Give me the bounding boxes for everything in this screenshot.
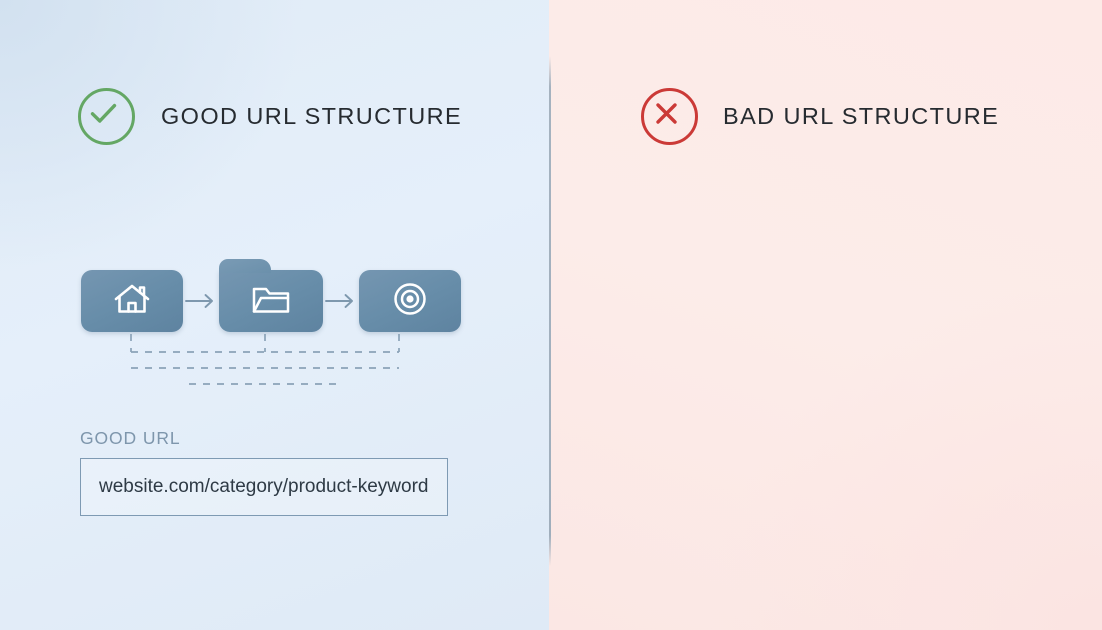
arrow-right-icon-2 <box>323 293 359 309</box>
good-panel-title: GOOD URL STRUCTURE <box>161 103 462 130</box>
comparison-graphic: GOOD URL STRUCTURE <box>0 0 1102 630</box>
url-hierarchy-flow <box>81 270 461 332</box>
good-url-label: GOOD URL <box>80 428 448 449</box>
bad-url-panel: BAD URL STRUCTURE <box>549 0 1102 630</box>
dashed-hierarchy-bracket <box>81 332 431 394</box>
panel-divider <box>549 56 551 566</box>
bad-panel-header: BAD URL STRUCTURE <box>641 88 999 145</box>
home-icon <box>110 279 154 324</box>
good-url-block: GOOD URL website.com/category/product-ke… <box>80 428 448 516</box>
flow-node-product[interactable] <box>359 270 461 332</box>
flow-node-home[interactable] <box>81 270 183 332</box>
bad-panel-title: BAD URL STRUCTURE <box>723 103 999 130</box>
flow-node-category[interactable] <box>219 270 323 332</box>
check-circle-icon <box>78 88 135 145</box>
good-panel-header: GOOD URL STRUCTURE <box>78 88 462 145</box>
good-url-value: website.com/category/product-keyword <box>99 476 428 498</box>
good-url-panel: GOOD URL STRUCTURE <box>0 0 549 630</box>
good-url-box[interactable]: website.com/category/product-keyword <box>80 458 448 516</box>
arrow-right-icon <box>183 293 219 309</box>
folder-icon <box>248 280 294 323</box>
target-icon <box>389 278 431 325</box>
x-circle-icon <box>641 88 698 145</box>
